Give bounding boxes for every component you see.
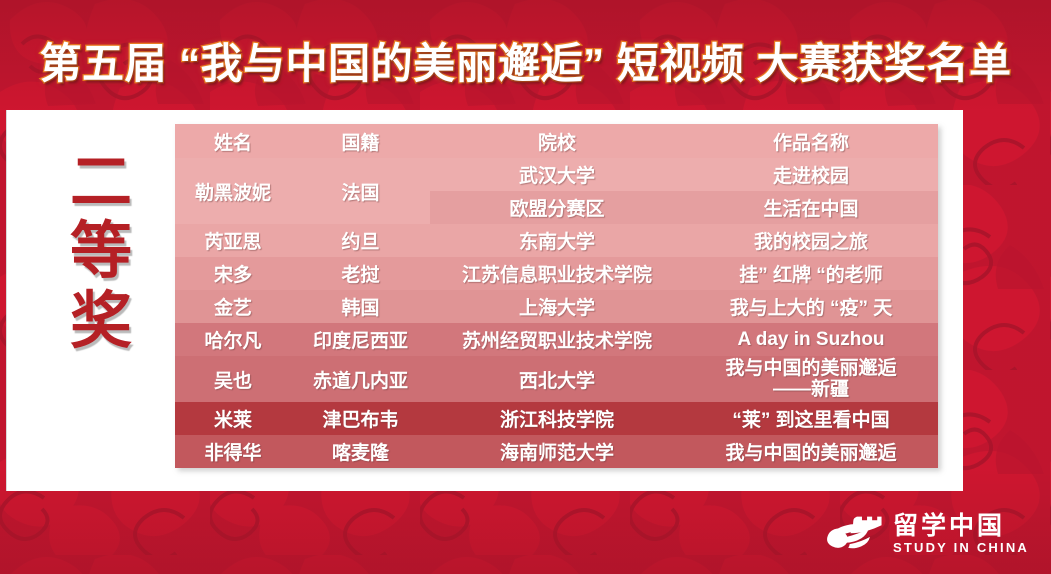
- cell-work: 我与上大的 “疫” 天: [684, 290, 938, 323]
- cell-work: 我与中国的美丽邂逅 ——新疆: [684, 356, 938, 402]
- cell-work: 挂” 红牌 “的老师: [684, 257, 938, 290]
- cell-nationality: 印度尼西亚: [291, 323, 430, 356]
- cell-school: 江苏信息职业技术学院: [430, 257, 684, 290]
- cell-work: 生活在中国: [684, 191, 938, 224]
- cell-school: 浙江科技学院: [430, 402, 684, 435]
- prize-char-2: 等: [55, 217, 147, 286]
- slide-root: 第五届 “我与中国的美丽邂逅” 短视频 大赛获奖名单 二 等 奖 姓名 国籍 院…: [0, 0, 1051, 574]
- table-row: 非得华 喀麦隆 海南师范大学 我与中国的美丽邂逅: [175, 435, 938, 468]
- cell-name: 勒黑波妮: [175, 158, 291, 224]
- table-row: 芮亚思 约旦 东南大学 我的校园之旅: [175, 224, 938, 257]
- cell-name: 吴也: [175, 356, 291, 402]
- prize-char-1: 二: [55, 148, 147, 217]
- cell-work: 走进校园: [684, 158, 938, 191]
- table-header-row: 姓名 国籍 院校 作品名称: [175, 124, 938, 158]
- logo-text: 留学中国 STUDY IN CHINA: [893, 513, 1029, 556]
- cell-nationality: 津巴布韦: [291, 402, 430, 435]
- cell-school: 上海大学: [430, 290, 684, 323]
- cell-nationality: 法国: [291, 158, 430, 224]
- table-row: 哈尔凡 印度尼西亚 苏州经贸职业技术学院 A day in Suzhou: [175, 323, 938, 356]
- cell-school: 海南师范大学: [430, 435, 684, 468]
- table-row: 金艺 韩国 上海大学 我与上大的 “疫” 天: [175, 290, 938, 323]
- cell-name: 金艺: [175, 290, 291, 323]
- table-row: 宋多 老挝 江苏信息职业技术学院 挂” 红牌 “的老师: [175, 257, 938, 290]
- award-table-container: 姓名 国籍 院校 作品名称 勒黑波妮 法国 武汉大学 走进校园 欧盟分赛区 生活…: [175, 124, 938, 468]
- column-header-work: 作品名称: [684, 124, 938, 158]
- column-header-nationality: 国籍: [291, 124, 430, 158]
- cell-work: “莱” 到这里看中国: [684, 402, 938, 435]
- cell-nationality: 韩国: [291, 290, 430, 323]
- column-header-name: 姓名: [175, 124, 291, 158]
- logo-name-en: STUDY IN CHINA: [893, 540, 1029, 556]
- cell-name: 非得华: [175, 435, 291, 468]
- cell-name: 宋多: [175, 257, 291, 290]
- cell-work: 我与中国的美丽邂逅: [684, 435, 938, 468]
- table-body: 勒黑波妮 法国 武汉大学 走进校园 欧盟分赛区 生活在中国 芮亚思 约旦 东南大…: [175, 158, 938, 468]
- logo-name-cn: 留学中国: [893, 513, 1029, 539]
- great-wall-cloud-emblem-icon: [825, 512, 883, 556]
- cell-name: 芮亚思: [175, 224, 291, 257]
- award-table: 姓名 国籍 院校 作品名称 勒黑波妮 法国 武汉大学 走进校园 欧盟分赛区 生活…: [175, 124, 938, 468]
- table-header: 姓名 国籍 院校 作品名称: [175, 124, 938, 158]
- cell-school: 苏州经贸职业技术学院: [430, 323, 684, 356]
- table-row: 米莱 津巴布韦 浙江科技学院 “莱” 到这里看中国: [175, 402, 938, 435]
- cell-school: 武汉大学: [430, 158, 684, 191]
- cell-work: A day in Suzhou: [684, 323, 938, 356]
- cell-work-line2: ——新疆: [688, 379, 934, 400]
- cell-school: 西北大学: [430, 356, 684, 402]
- cell-school: 欧盟分赛区: [430, 191, 684, 224]
- prize-level-label: 二 等 奖: [55, 148, 147, 356]
- cell-name: 米莱: [175, 402, 291, 435]
- cell-name: 哈尔凡: [175, 323, 291, 356]
- cell-nationality: 赤道几内亚: [291, 356, 430, 402]
- logo: 留学中国 STUDY IN CHINA: [825, 512, 1029, 556]
- column-header-school: 院校: [430, 124, 684, 158]
- cell-work-line1: 我与中国的美丽邂逅: [688, 358, 934, 379]
- cell-nationality: 喀麦隆: [291, 435, 430, 468]
- prize-char-3: 奖: [55, 287, 147, 356]
- table-row: 勒黑波妮 法国 武汉大学 走进校园: [175, 158, 938, 191]
- cell-work: 我的校园之旅: [684, 224, 938, 257]
- cell-nationality: 约旦: [291, 224, 430, 257]
- cell-school: 东南大学: [430, 224, 684, 257]
- table-row: 吴也 赤道几内亚 西北大学 我与中国的美丽邂逅 ——新疆: [175, 356, 938, 402]
- cell-nationality: 老挝: [291, 257, 430, 290]
- page-title: 第五届 “我与中国的美丽邂逅” 短视频 大赛获奖名单: [39, 43, 1011, 85]
- title-band: 第五届 “我与中国的美丽邂逅” 短视频 大赛获奖名单: [0, 26, 1051, 102]
